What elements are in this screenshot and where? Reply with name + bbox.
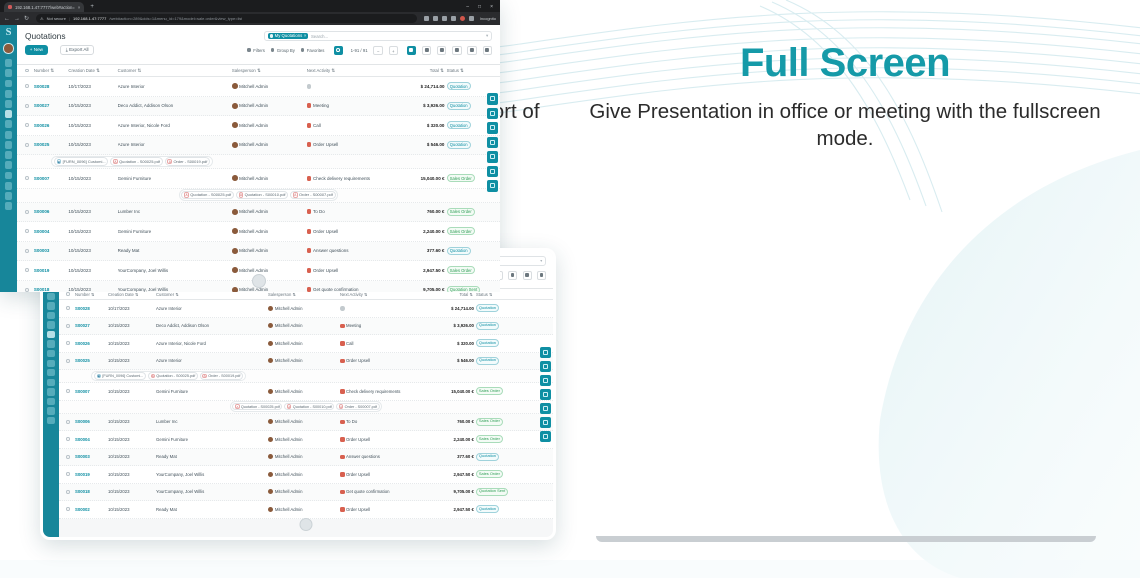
cell-number[interactable]: S00004: [75, 437, 108, 442]
attachment-chip[interactable]: AOrder - S00019.pdf: [165, 157, 210, 165]
cell-salesperson: Mitchell Admin: [232, 175, 307, 181]
note-icon: [307, 176, 312, 181]
magnifier-tool-fit-width[interactable]: [540, 417, 551, 428]
cell-creation-date: 10/15/2023: [108, 437, 156, 442]
search-input[interactable]: Search...: [311, 34, 484, 39]
cell-salesperson: Mitchell Admin: [268, 454, 340, 459]
app-sidebar[interactable]: S: [43, 251, 59, 537]
laptop-device-mock: 192.168.1.47:7777/web#action=×+–□× ←→↻⚠N…: [0, 0, 500, 292]
image-icon: ▣: [57, 159, 62, 164]
browser-forward-arrow[interactable]: →: [14, 16, 20, 22]
sidebar-contacts-icon[interactable]: [47, 312, 54, 319]
select-all-checkbox[interactable]: [25, 69, 34, 73]
cell-total: 2,947.50 €: [418, 472, 476, 477]
cell-salesperson: Mitchell Admin: [268, 389, 340, 394]
salesperson-name: Mitchell Admin: [239, 229, 268, 234]
sidebar-sales-icon[interactable]: [47, 331, 54, 338]
search-box[interactable]: My Quotations×Search...▾: [264, 31, 492, 41]
magnifier-tool-fullscreen[interactable]: [487, 122, 499, 134]
column-header-status[interactable]: Status ⇅: [476, 292, 520, 297]
row-checkbox[interactable]: [66, 420, 75, 424]
column-header-next-activity[interactable]: Next Activity ⇅: [307, 68, 390, 74]
sidebar-sales-icon[interactable]: [5, 110, 13, 118]
cell-status: Quotation: [476, 505, 520, 513]
cell-number[interactable]: S00007: [34, 176, 68, 181]
page-stage: Magnifier Enlarge or Shrink the view acc…: [0, 0, 1140, 578]
magnifier-tool-settings[interactable]: [540, 431, 551, 442]
cell-number[interactable]: S00002: [75, 507, 108, 512]
row-checkbox[interactable]: [25, 229, 34, 233]
window-minimize-button[interactable]: –: [463, 2, 472, 12]
row-checkbox[interactable]: [25, 104, 34, 108]
upsell-icon: [307, 142, 312, 147]
control-favorites[interactable]: Favorites: [301, 48, 325, 53]
upsell-icon: [340, 359, 345, 364]
row-checkbox[interactable]: [66, 455, 75, 459]
sidebar-calendar-icon[interactable]: [5, 80, 13, 88]
cell-status: Sales Order: [447, 208, 492, 216]
magnifier-tool-zoom-out[interactable]: [540, 389, 551, 400]
table-row[interactable]: S0002510/15/2023Azure InteriorMitchell A…: [59, 353, 553, 371]
column-header-total[interactable]: Total ⇅: [418, 292, 476, 297]
cell-total: 15,040.00 €: [418, 389, 476, 394]
attachment-chip[interactable]: ▣[FURN_0096] Customi...: [54, 157, 109, 165]
sidebar-calendar-icon[interactable]: [47, 302, 54, 309]
floating-action-button[interactable]: [252, 274, 266, 288]
salesperson-name: Mitchell Admin: [239, 176, 268, 181]
cell-salesperson: Mitchell Admin: [268, 419, 340, 424]
cell-number[interactable]: S00003: [34, 248, 68, 253]
magnifier-tool-zoom-reset[interactable]: [487, 93, 499, 105]
salesperson-name: Mitchell Admin: [239, 248, 268, 253]
status-badge: Quotation: [476, 453, 499, 461]
sidebar-crm-icon[interactable]: [5, 100, 13, 108]
cell-number[interactable]: S00025: [34, 142, 68, 147]
next-activity-label: Answer questions: [313, 248, 349, 253]
cell-next-activity: Meeting: [307, 103, 390, 108]
magnifier-tool-zoom-out[interactable]: [487, 137, 499, 149]
window-maximize-button[interactable]: □: [475, 2, 484, 12]
upsell-icon: [307, 268, 312, 273]
cell-salesperson: Mitchell Admin: [232, 209, 307, 215]
search-facet-remove-icon[interactable]: ×: [304, 34, 307, 39]
cell-next-activity: [307, 84, 390, 89]
row-checkbox[interactable]: [25, 84, 34, 88]
view-graph-view-icon[interactable]: [523, 271, 532, 280]
status-badge: Sales Order: [447, 208, 475, 216]
table-row[interactable]: S0002610/15/2023Azure Interior, Nicole F…: [59, 335, 553, 353]
table-row[interactable]: S0000610/15/2023Lumber IncMitchell Admin…: [59, 414, 553, 432]
attachment-chip[interactable]: AOrder - S00007.pdf: [336, 403, 379, 411]
salesperson-name: Mitchell Admin: [275, 341, 303, 346]
salesperson-avatar: [268, 454, 273, 459]
sidebar-purchase-icon[interactable]: [47, 350, 54, 357]
next-activity-label: Call: [313, 123, 321, 128]
sidebar-manufacturing-icon[interactable]: [47, 360, 54, 367]
cell-number[interactable]: S00018: [75, 489, 108, 494]
cell-status: Sales Order: [476, 418, 520, 426]
view-list-view-icon[interactable]: [407, 46, 416, 55]
radio-glyph: [66, 490, 70, 494]
browser-split[interactable]: [451, 16, 456, 21]
next-activity-label: Call: [346, 341, 353, 346]
attachment-chip[interactable]: AOrder - S00007.pdf: [290, 191, 335, 199]
search-dropdown-icon[interactable]: ▾: [486, 33, 488, 39]
cell-creation-date: 10/15/2023: [68, 268, 117, 273]
table-row[interactable]: S0002810/17/2023Azure InteriorMitchell A…: [59, 300, 553, 318]
row-checkbox[interactable]: [25, 210, 34, 214]
laptop-base: [596, 536, 1096, 542]
zoom-out-icon: [543, 392, 548, 397]
status-badge: Quotation: [476, 339, 499, 347]
attachment-chip[interactable]: AQuotation - S00025.pdf: [232, 403, 282, 411]
salesperson-name: Mitchell Admin: [239, 103, 268, 108]
row-checkbox[interactable]: [66, 324, 75, 328]
cell-number[interactable]: S00025: [75, 358, 108, 363]
row-checkbox[interactable]: [66, 341, 75, 345]
browser-tab[interactable]: 192.168.1.47:7777/web#action=×: [4, 2, 84, 12]
magnifier-toggle-button[interactable]: [334, 46, 343, 55]
view-pivot-view-icon[interactable]: [508, 271, 517, 280]
cell-number[interactable]: S00026: [34, 123, 68, 128]
sidebar-filter-icon[interactable]: [5, 69, 13, 77]
sidebar-accounting-icon[interactable]: [5, 151, 13, 159]
cell-number[interactable]: S00028: [75, 306, 108, 311]
magnifier-tool-screenshot[interactable]: [487, 151, 499, 163]
magnifier-tool-zoom-in[interactable]: [540, 361, 551, 372]
radio-glyph: [25, 210, 29, 214]
magnifier-tool-screenshot[interactable]: [540, 403, 551, 414]
table-row[interactable]: S0001810/15/2023YourCompany, Joel Willis…: [59, 484, 553, 502]
question-icon: [340, 455, 345, 460]
table-row[interactable]: S0000310/15/2023Ready MatMitchell AdminA…: [17, 242, 500, 262]
radio-glyph: [66, 324, 70, 328]
cell-customer: Gemini Furniture: [156, 389, 268, 394]
row-checkbox[interactable]: [66, 472, 75, 476]
cell-status: Quotation: [476, 304, 520, 312]
view-graph-view-icon[interactable]: [467, 46, 476, 55]
table-row[interactable]: S0002610/15/2023Azure Interior, Nicole F…: [17, 116, 500, 136]
tab-close-icon[interactable]: ×: [78, 5, 81, 10]
column-header-salesperson[interactable]: Salesperson ⇅: [268, 292, 340, 297]
url-separator: |: [69, 16, 70, 21]
cell-salesperson: Mitchell Admin: [232, 142, 307, 148]
column-header-number[interactable]: Number ⇅: [75, 292, 108, 297]
status-badge: Quotation Sent: [476, 488, 508, 496]
cell-number[interactable]: S00028: [34, 84, 68, 89]
column-header-salesperson[interactable]: Salesperson ⇅: [232, 68, 307, 74]
cell-number[interactable]: S00027: [34, 103, 68, 108]
magnifier-tool-fit-width[interactable]: [487, 166, 499, 178]
view-calendar-view-icon[interactable]: [437, 46, 446, 55]
magnifier-tool-zoom-reset[interactable]: [540, 347, 551, 358]
next-activity-label: To Do: [313, 209, 325, 214]
cell-status: Quotation: [476, 322, 520, 330]
row-checkbox[interactable]: [66, 359, 75, 363]
sidebar-purchase-icon[interactable]: [5, 131, 13, 139]
cell-creation-date: 10/15/2023: [108, 389, 156, 394]
sidebar-project-icon[interactable]: [47, 379, 54, 386]
cell-next-activity: Check delivery requirements: [307, 176, 390, 181]
control-group-by-label: Group By: [277, 48, 295, 53]
row-checkbox[interactable]: [25, 268, 34, 272]
attachment-chip[interactable]: AQuotation - S00010.pdf: [284, 403, 334, 411]
browser-account[interactable]: [460, 16, 465, 21]
settings-icon: [543, 434, 548, 439]
cell-number[interactable]: S00003: [75, 454, 108, 459]
status-badge: Quotation: [447, 82, 471, 90]
attachment-chip-label: Order - S00007.pdf: [345, 405, 377, 409]
fullscreen-icon: [543, 378, 548, 383]
cell-next-activity: Check delivery requirements: [340, 389, 418, 394]
table-row[interactable]: S0002810/17/2023Azure InteriorMitchell A…: [17, 77, 500, 97]
window-close-button[interactable]: ×: [487, 2, 496, 12]
panel-fullscreen-headline: Full Screen: [565, 42, 1125, 84]
column-header-creation-date[interactable]: Creation Date ⇅: [108, 292, 156, 297]
note-icon: [340, 389, 345, 394]
cell-number[interactable]: S00004: [34, 229, 68, 234]
zoom-reset-icon: [490, 96, 495, 101]
attachment-row: ▣[FURN_0096] Customi...AQuotation - S000…: [59, 370, 553, 383]
attachment-chip-label: Quotation - S00010.pdf: [245, 192, 286, 197]
sidebar-contacts-icon[interactable]: [5, 90, 13, 98]
new-button[interactable]: + New: [25, 45, 48, 55]
screenshot-icon: [490, 154, 495, 159]
sidebar-logo: S: [6, 28, 12, 39]
table-row[interactable]: S0002710/15/2023Deco Addict, Addison Ols…: [17, 97, 500, 117]
cell-next-activity: Order Upsell: [307, 142, 390, 147]
cell-next-activity: Meeting: [340, 323, 418, 328]
status-badge: Quotation: [447, 102, 471, 110]
column-header-status[interactable]: Status ⇅: [447, 68, 492, 74]
browser-back-arrow[interactable]: ←: [4, 16, 10, 22]
salesperson-avatar: [268, 472, 273, 477]
calendar-view-icon: [440, 48, 444, 52]
magnifier-tool-zoom-in[interactable]: [487, 108, 499, 120]
view-pivot-view-icon[interactable]: [452, 46, 461, 55]
cell-next-activity: Order Upsell: [307, 229, 390, 234]
pdf-icon: A: [287, 404, 292, 409]
browser-extension[interactable]: [433, 16, 438, 21]
new-tab-button[interactable]: +: [87, 2, 97, 12]
salesperson-avatar: [232, 83, 238, 89]
view-activity-view-icon[interactable]: [483, 46, 492, 55]
row-checkbox[interactable]: [25, 176, 34, 180]
zoom-in-button[interactable]: +: [389, 46, 398, 55]
row-checkbox[interactable]: [25, 123, 34, 127]
sidebar-crm-icon[interactable]: [47, 321, 54, 328]
sidebar-filter-icon[interactable]: [47, 293, 54, 300]
browser-cast[interactable]: [442, 16, 447, 21]
cell-total: $ 320.00: [390, 123, 447, 128]
zoom-out-button[interactable]: −: [373, 46, 382, 55]
cell-number[interactable]: S00026: [75, 341, 108, 346]
cell-number[interactable]: S00019: [75, 472, 108, 477]
row-checkbox[interactable]: [66, 306, 75, 310]
magnifier-tool-settings[interactable]: [487, 180, 499, 192]
next-activity-label: Get quote confirmation: [346, 489, 389, 494]
sidebar-website-icon[interactable]: [47, 398, 54, 405]
sidebar-website-icon[interactable]: [5, 182, 13, 190]
fit-width-icon: [543, 420, 548, 425]
select-all-checkbox[interactable]: [66, 292, 75, 296]
pagination-label: 1-91 / 91: [351, 48, 368, 53]
column-header-customer[interactable]: Customer ⇅: [118, 68, 232, 74]
cell-creation-date: 10/15/2023: [108, 358, 156, 363]
meeting-icon: [307, 103, 312, 108]
cell-next-activity: Answer questions: [307, 248, 390, 253]
sidebar-inventory-icon[interactable]: [47, 340, 54, 347]
cell-creation-date: 10/15/2023: [108, 507, 156, 512]
column-header-next-activity[interactable]: Next Activity ⇅: [340, 292, 418, 297]
cell-next-activity: Answer questions: [340, 454, 418, 459]
sidebar-employees-icon[interactable]: [47, 388, 54, 395]
sidebar-discuss-icon[interactable]: [5, 59, 13, 67]
cell-next-activity: Order Upsell: [340, 507, 418, 512]
sidebar-manufacturing-icon[interactable]: [5, 141, 13, 149]
view-kanban-view-icon[interactable]: [422, 46, 431, 55]
attachment-chip[interactable]: AQuotation - S00025.pdf: [110, 157, 162, 165]
search-dropdown-icon[interactable]: ▾: [540, 258, 542, 263]
salesperson-avatar: [232, 142, 238, 148]
attachment-chip[interactable]: AQuotation - S00025.pdf: [148, 372, 198, 380]
cell-status: Quotation Sent: [447, 286, 492, 292]
control-group-by[interactable]: Group By: [271, 48, 295, 53]
salesperson-avatar: [232, 209, 238, 215]
salesperson-avatar: [232, 122, 238, 128]
sidebar-project-icon[interactable]: [5, 161, 13, 169]
row-checkbox[interactable]: [25, 143, 34, 147]
cell-number[interactable]: S00027: [75, 323, 108, 328]
table-row[interactable]: S0002710/15/2023Deco Addict, Addison Ols…: [59, 318, 553, 336]
cell-total: 377.60 €: [390, 248, 447, 253]
table-row[interactable]: S0000710/15/2023Gemini FurnitureMitchell…: [17, 169, 500, 189]
attachment-chip[interactable]: AOrder - S00019.pdf: [200, 372, 243, 380]
browser-reload[interactable]: ↻: [24, 16, 29, 22]
panel-fullscreen-header: Full Screen Give Presentation in office …: [565, 42, 1125, 153]
browser-tabstrip[interactable]: 192.168.1.47:7777/web#action=×+–□×: [0, 0, 500, 12]
cell-customer: Ready Mat: [156, 454, 268, 459]
row-checkbox[interactable]: [66, 490, 75, 494]
sidebar-apps-icon[interactable]: [5, 192, 13, 200]
row-checkbox[interactable]: [66, 507, 75, 511]
browser-bookmark-star[interactable]: [424, 16, 429, 21]
cell-number[interactable]: S00007: [75, 389, 108, 394]
cell-number[interactable]: S00006: [34, 209, 68, 214]
cell-number[interactable]: S00006: [75, 419, 108, 424]
upsell-icon: [340, 472, 345, 477]
cell-creation-date: 10/17/2023: [108, 306, 156, 311]
export-all-button[interactable]: ⤓ Export All: [60, 45, 94, 55]
column-header-customer[interactable]: Customer ⇅: [156, 292, 268, 297]
cell-customer: Gemini Furniture: [156, 437, 268, 442]
cell-salesperson: Mitchell Admin: [232, 103, 307, 109]
cell-creation-date: 10/15/2023: [68, 229, 117, 234]
next-activity-label: Order Upsell: [346, 472, 370, 477]
cell-creation-date: 10/15/2023: [68, 287, 117, 292]
table-row[interactable]: S0000210/15/2023Ready MatMitchell AdminO…: [59, 501, 553, 519]
sidebar-settings-icon[interactable]: [5, 202, 13, 210]
cell-status: Quotation: [447, 247, 492, 255]
cell-next-activity: Order Upsell: [340, 358, 418, 363]
upsell-icon: [340, 507, 345, 512]
salesperson-avatar: [268, 507, 273, 512]
attachment-chip[interactable]: AQuotation - S00025.pdf: [181, 191, 233, 199]
radio-glyph: [66, 359, 70, 363]
list-view-icon: [409, 48, 413, 52]
radio-glyph: [25, 84, 29, 88]
attachment-chip[interactable]: AQuotation - S00010.pdf: [236, 191, 288, 199]
search-facet-my-quotations[interactable]: My Quotations×: [268, 33, 309, 40]
attachment-chip-label: [FURN_0096] Customi...: [63, 159, 106, 164]
column-header-creation-date[interactable]: Creation Date ⇅: [68, 68, 117, 74]
salesperson-name: Mitchell Admin: [275, 306, 303, 311]
sidebar-accounting-icon[interactable]: [47, 369, 54, 376]
browser-navbar[interactable]: ←→↻⚠Not secure|192.168.1.47:7777/web#act…: [0, 12, 500, 25]
attachment-chip[interactable]: ▣[FURN_0096] Customi...: [94, 372, 146, 380]
view-control-bar: FiltersGroup ByFavorites1-91 / 91−+: [247, 46, 492, 55]
table-row[interactable]: S0000310/15/2023Ready MatMitchell AdminA…: [59, 449, 553, 467]
call-icon: [340, 341, 345, 346]
table-row[interactable]: S0002510/15/2023Azure InteriorMitchell A…: [17, 136, 500, 156]
browser-url-bar[interactable]: ⚠Not secure|192.168.1.47:7777/web#action…: [36, 14, 417, 23]
row-checkbox[interactable]: [66, 437, 75, 441]
table-row[interactable]: S0000710/15/2023Gemini FurnitureMitchell…: [59, 383, 553, 401]
cell-salesperson: Mitchell Admin: [232, 122, 307, 128]
todo-icon: [307, 209, 312, 214]
browser-menu[interactable]: [469, 16, 474, 21]
radio-glyph: [66, 437, 70, 441]
table-row[interactable]: S0000410/15/2023Gemini FurnitureMitchell…: [17, 222, 500, 242]
status-badge: Sales Order: [447, 266, 475, 274]
filter-icon: [247, 48, 250, 51]
salesperson-name: Mitchell Admin: [239, 287, 268, 292]
cell-creation-date: 10/17/2023: [68, 84, 117, 89]
attachment-chip-group: AQuotation - S00025.pdfAQuotation - S000…: [230, 401, 383, 412]
column-header-number[interactable]: Number ⇅: [34, 68, 69, 74]
row-checkbox[interactable]: [25, 288, 34, 292]
favicon-icon: [8, 5, 12, 9]
row-checkbox[interactable]: [66, 389, 75, 393]
cell-status: Quotation: [476, 339, 520, 347]
row-checkbox[interactable]: [25, 249, 34, 253]
cell-creation-date: 10/15/2023: [108, 341, 156, 346]
cell-total: 9,705.00 €: [390, 287, 447, 292]
attachment-chip-label: Quotation - S00025.pdf: [156, 374, 195, 378]
cell-customer: Azure Interior: [118, 142, 232, 147]
upsell-icon: [307, 229, 312, 234]
cell-number[interactable]: S00019: [34, 268, 68, 273]
view-activity-view-icon[interactable]: [537, 271, 546, 280]
table-row[interactable]: S0001910/15/2023YourCompany, Joel Willis…: [59, 466, 553, 484]
column-header-total[interactable]: Total ⇅: [390, 68, 447, 74]
cell-status: Sales Order: [476, 435, 520, 443]
cell-customer: Deco Addict, Addison Olson: [156, 323, 268, 328]
status-badge: Quotation: [447, 247, 471, 255]
sidebar-apps-icon[interactable]: [47, 407, 54, 414]
sidebar-employees-icon[interactable]: [5, 172, 13, 180]
magnifier-tool-fullscreen[interactable]: [540, 375, 551, 386]
table-row[interactable]: S0000410/15/2023Gemini FurnitureMitchell…: [59, 431, 553, 449]
floating-action-button[interactable]: [300, 518, 313, 531]
sidebar-settings-icon[interactable]: [47, 417, 54, 424]
cell-number[interactable]: S00018: [34, 287, 68, 292]
sidebar-inventory-icon[interactable]: [5, 120, 13, 128]
table-row[interactable]: S0000610/15/2023Lumber IncMitchell Admin…: [17, 203, 500, 223]
control-filters[interactable]: Filters: [247, 48, 265, 53]
cell-customer: Gemini Furniture: [118, 176, 232, 181]
cell-customer: Azure Interior, Nicole Ford: [156, 341, 268, 346]
